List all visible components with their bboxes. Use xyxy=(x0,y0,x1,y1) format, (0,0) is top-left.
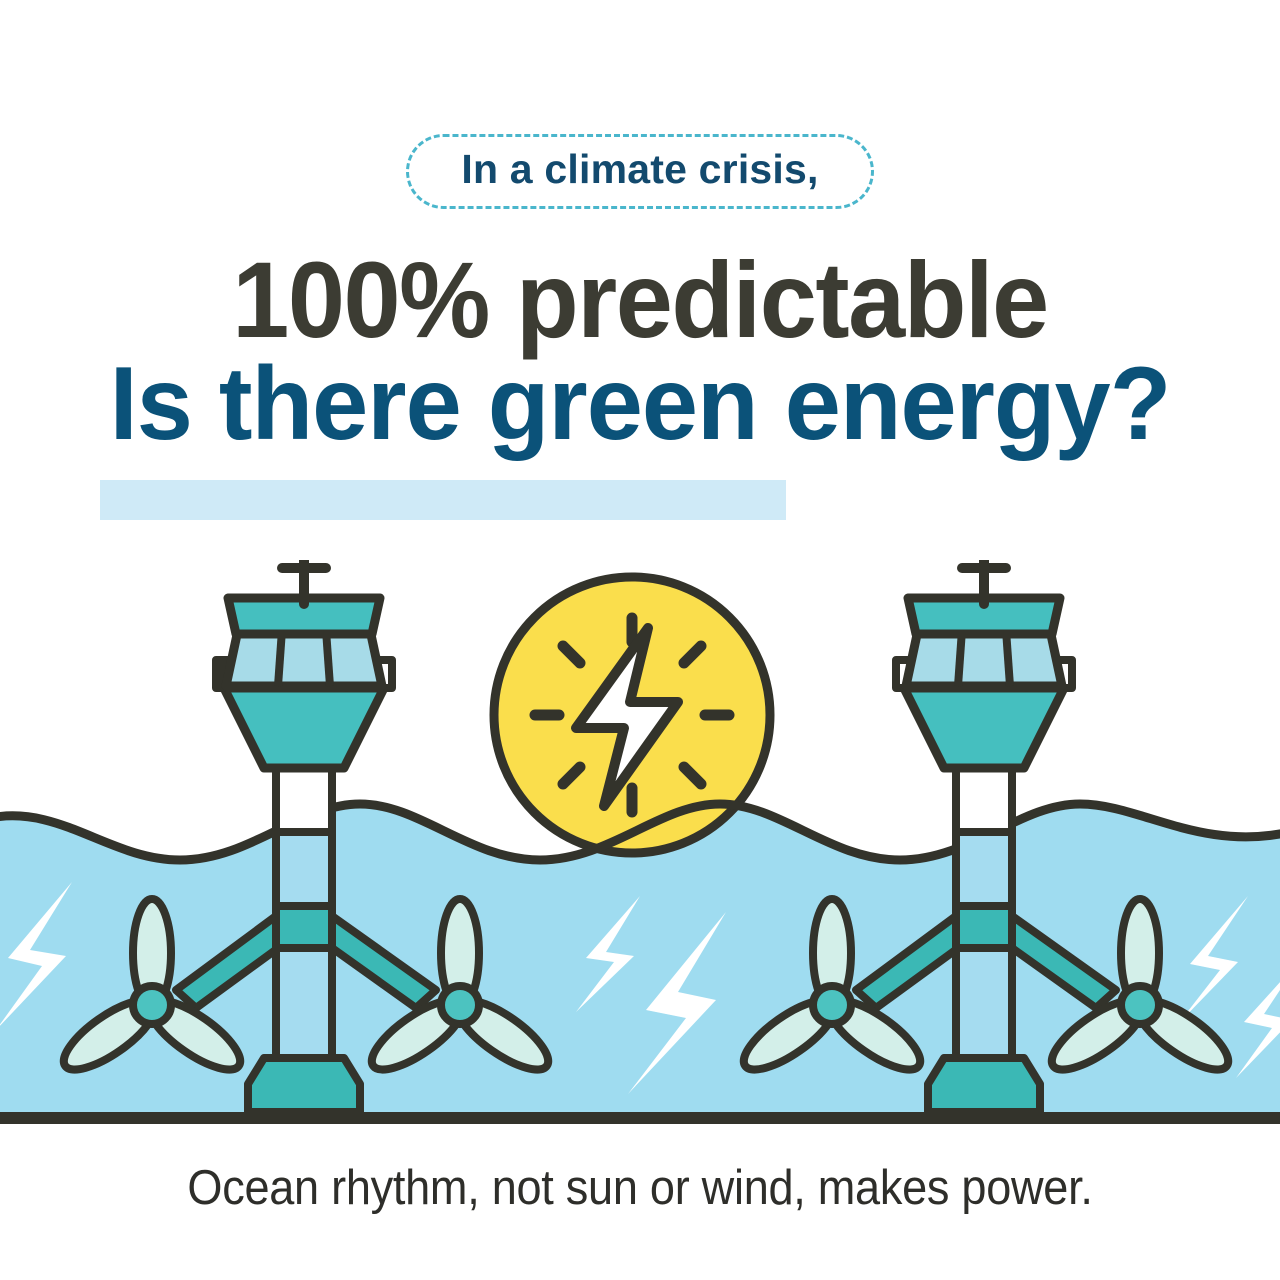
ocean-turbine-illustration xyxy=(0,560,1280,1140)
tower-base-footing xyxy=(928,1058,1040,1112)
below-seabed xyxy=(0,1124,1280,1140)
eyebrow-pill: In a climate crisis, xyxy=(406,134,873,209)
eyebrow-wrapper: In a climate crisis, xyxy=(0,134,1280,209)
tower-base-footing xyxy=(248,1058,360,1112)
tower-collar xyxy=(276,906,332,948)
highlight-bar xyxy=(100,480,786,520)
tidal-turbine-tower-left xyxy=(54,560,557,1112)
energy-bolt-sun-icon xyxy=(494,577,770,853)
poster-root: In a climate crisis, 100% predictable Is… xyxy=(0,0,1280,1280)
headline-primary: 100% predictable xyxy=(32,246,1248,354)
eyebrow-label: In a climate crisis, xyxy=(461,149,818,190)
tower-platform xyxy=(224,688,384,768)
headline-secondary: Is there green energy? xyxy=(19,352,1261,456)
caption-text: Ocean rhythm, not sun or wind, makes pow… xyxy=(51,1160,1229,1216)
tower-collar xyxy=(956,906,1012,948)
tower-platform xyxy=(904,688,1064,768)
seabed-line xyxy=(0,1112,1280,1124)
